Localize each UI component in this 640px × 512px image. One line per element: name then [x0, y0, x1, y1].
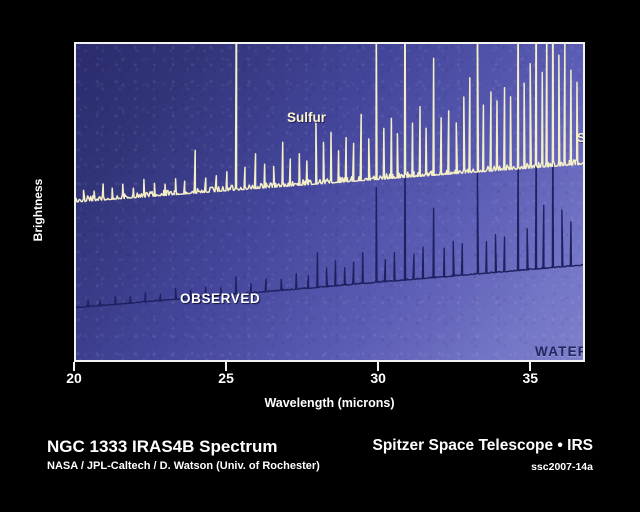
x-tick-label: 25 [218, 370, 234, 386]
caption-credit: NASA / JPL-Caltech / D. Watson (Univ. of… [47, 460, 320, 472]
x-axis-title: Wavelength (microns) [74, 396, 585, 410]
spectrum-traces [76, 44, 583, 360]
plot-area: Sulfur Silicon OBSERVED WATER MODEL [74, 42, 585, 362]
x-tick-label: 35 [522, 370, 538, 386]
caption-title: NGC 1333 IRAS4B Spectrum [47, 437, 278, 457]
x-axis-tick-labels: 20253035 [74, 370, 585, 388]
x-tick-label: 20 [66, 370, 82, 386]
caption-mission: Spitzer Space Telescope • IRS [373, 437, 594, 455]
x-tick-label: 30 [370, 370, 386, 386]
spitzer-spectrum-figure: Sulfur Silicon OBSERVED WATER MODEL 2025… [0, 0, 640, 512]
caption-release-id: ssc2007-14a [531, 461, 593, 473]
water-model-trace [76, 129, 583, 308]
observed-trace [76, 44, 583, 202]
caption-block: NGC 1333 IRAS4B Spectrum NASA / JPL-Calt… [0, 432, 640, 492]
y-axis-title: Brightness [31, 145, 45, 275]
